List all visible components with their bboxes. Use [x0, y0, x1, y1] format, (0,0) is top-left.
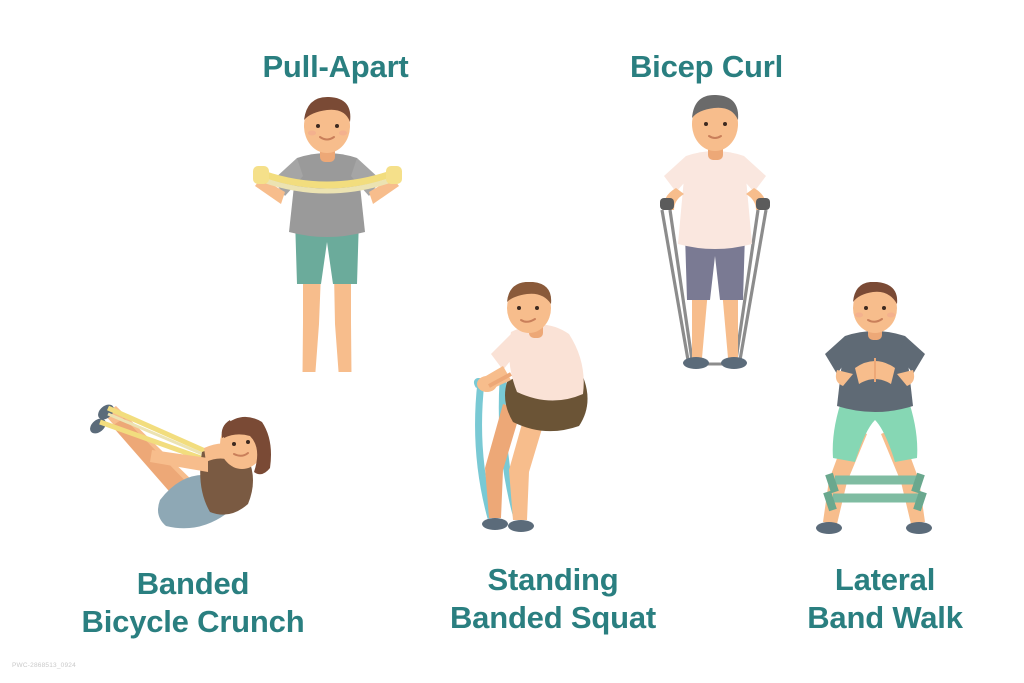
infographic-canvas: Pull-Apart Bicep Curl Banded Bicycle Cru…: [0, 0, 1024, 683]
illustration-standing-banded-squat: [455, 282, 615, 542]
title-standing-banded-squat: Standing Banded Squat: [408, 561, 698, 637]
illustration-pull-apart: [245, 92, 410, 372]
figure-shoes: [816, 522, 932, 534]
figure-head: [692, 95, 738, 160]
title-lateral-band-walk: Lateral Band Walk: [760, 561, 1010, 637]
figure-head: [304, 97, 350, 162]
figure-head: [853, 282, 897, 340]
figure-shoes: [482, 518, 534, 532]
title-banded-bicycle-crunch: Banded Bicycle Crunch: [48, 565, 338, 641]
illustration-lateral-band-walk: [795, 282, 960, 544]
watermark-code: PWC-2868513_0924: [12, 662, 76, 669]
illustration-bicep-curl: [630, 92, 800, 382]
title-pull-apart: Pull-Apart: [233, 48, 438, 86]
illustration-banded-bicycle-crunch: [82, 392, 282, 547]
figure-shirt: [664, 151, 766, 249]
figure-shirt: [273, 153, 381, 237]
title-bicep-curl: Bicep Curl: [604, 48, 809, 86]
